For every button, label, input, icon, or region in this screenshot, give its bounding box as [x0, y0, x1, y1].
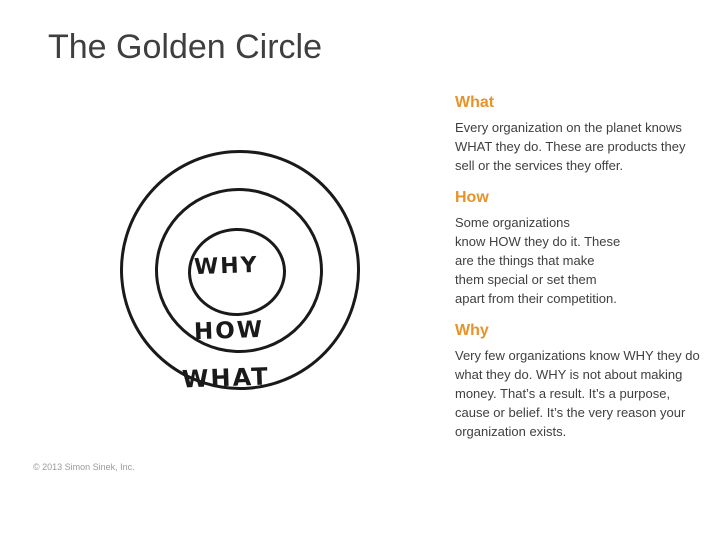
slide-canvas: The Golden Circle WHY HOW WHAT What Ever… [0, 0, 720, 540]
ring-label-what: WHAT [182, 362, 271, 393]
page-title: The Golden Circle [48, 28, 322, 67]
explanation-column: What Every organization on the planet kn… [455, 94, 700, 441]
ring-label-why: WHY [194, 253, 259, 280]
copyright-notice: © 2013 Simon Sinek, Inc. [33, 462, 135, 472]
block-how: How Some organizations know HOW they do … [455, 189, 700, 308]
golden-circle-diagram: WHY HOW WHAT [110, 140, 380, 400]
block-how-body: Some organizations know HOW they do it. … [455, 213, 700, 308]
block-how-heading: How [455, 189, 700, 207]
block-why-body: Very few organizations know WHY they do … [455, 346, 700, 441]
block-why-heading: Why [455, 322, 700, 340]
block-what-heading: What [455, 94, 700, 112]
block-what-body: Every organization on the planet knows W… [455, 118, 700, 175]
block-why: Why Very few organizations know WHY they… [455, 322, 700, 441]
block-what: What Every organization on the planet kn… [455, 94, 700, 175]
ring-label-how: HOW [194, 317, 265, 345]
